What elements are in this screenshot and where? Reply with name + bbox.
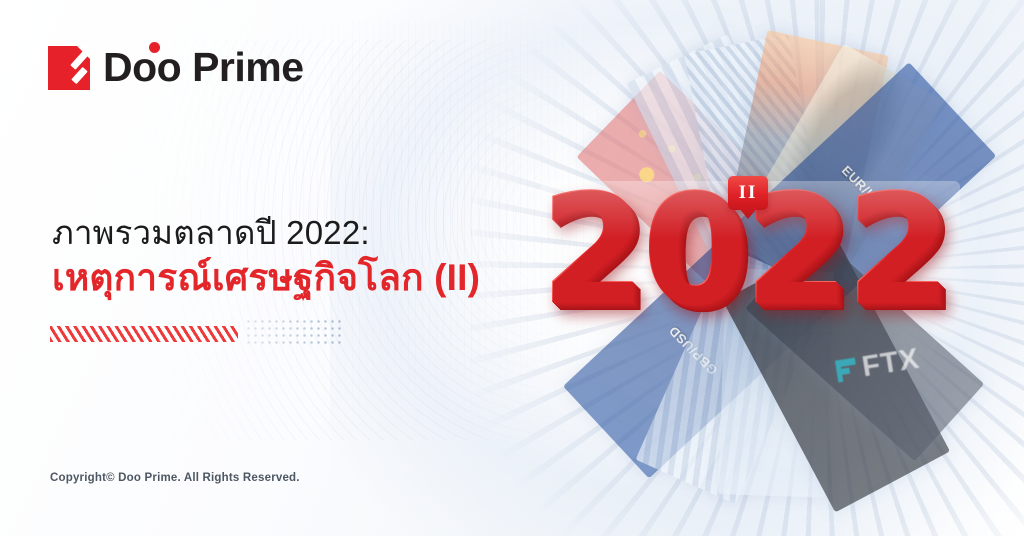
doo-prime-wordmark: Doo Prime (103, 44, 304, 91)
part-two-badge: II (728, 176, 768, 210)
logo-accent-dot-icon (149, 42, 160, 53)
headline-line-2: เหตุการณ์เศรษฐกิจโลก (II) (52, 254, 572, 302)
doo-prime-logo[interactable]: Doo Prime (48, 44, 304, 91)
hatched-underline (50, 326, 238, 342)
halftone-dot-grid (245, 318, 345, 344)
marketing-banner: EUR/USD GBP/USD FTX 2022 II Doo Prime ภา… (0, 0, 1024, 536)
ftx-glyph-icon (835, 358, 858, 383)
part-two-badge-label: II (728, 176, 768, 210)
logo-slash-upper-icon (70, 50, 89, 70)
doo-prime-logo-mark-icon (48, 46, 90, 90)
headline-line-1: ภาพรวมตลาดปี 2022: (52, 212, 572, 254)
copyright-text: Copyright© Doo Prime. All Rights Reserve… (50, 472, 300, 484)
headline-block: ภาพรวมตลาดปี 2022: เหตุการณ์เศรษฐกิจโลก … (52, 212, 572, 302)
